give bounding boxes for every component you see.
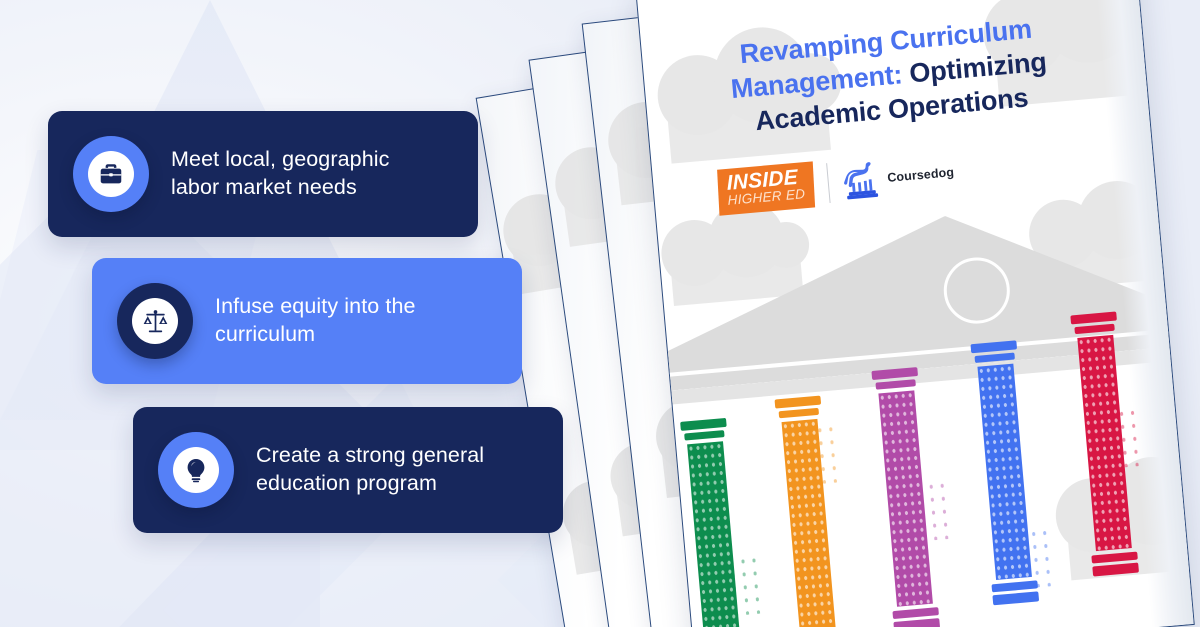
coursedog-logo: Coursedog (841, 152, 956, 202)
cover-logo-row: INSIDE HIGHER ED (716, 149, 956, 215)
highlight-card-label: Meet local, geographic labor market need… (171, 146, 390, 201)
scales-of-justice-icon (141, 307, 170, 336)
coursedog-wordmark: Coursedog (887, 165, 955, 185)
pillar-blue (970, 340, 1039, 605)
dog-statue-icon (841, 159, 880, 202)
report-cover-main: Revamping Curriculum Management: Optimiz… (635, 0, 1195, 627)
lightbulb-icon-badge (158, 432, 234, 508)
classical-building-illustration (638, 196, 1194, 627)
highlight-card-label: Infuse equity into the curriculum (215, 293, 416, 348)
highlight-card-general-education[interactable]: Create a strong general education progra… (133, 407, 563, 533)
briefcase-icon (97, 160, 125, 188)
pillar-green (680, 418, 749, 627)
lightbulb-icon (182, 456, 210, 484)
highlight-card-list: Meet local, geographic labor market need… (0, 0, 620, 627)
inside-higher-ed-logo: INSIDE HIGHER ED (717, 161, 815, 215)
scales-of-justice-icon-badge (117, 283, 193, 359)
highlight-card-labor-market[interactable]: Meet local, geographic labor market need… (48, 111, 478, 237)
highlight-card-label: Create a strong general education progra… (256, 442, 484, 497)
report-title: Revamping Curriculum Management: Optimiz… (665, 5, 1112, 145)
promo-banner: Revamping Curriculum Management: Optimiz… (0, 0, 1200, 627)
logo-divider (826, 163, 830, 203)
briefcase-icon-badge (73, 136, 149, 212)
highlight-card-equity[interactable]: Infuse equity into the curriculum (92, 258, 522, 384)
